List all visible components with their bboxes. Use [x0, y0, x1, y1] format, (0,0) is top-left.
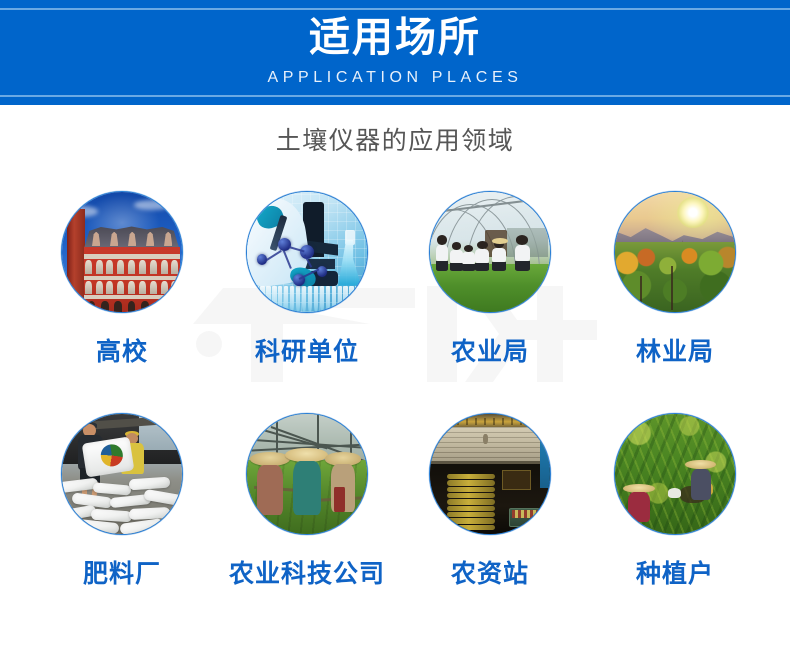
university-building-illustration	[62, 192, 182, 312]
place-label: 农资站	[397, 559, 583, 589]
banner-bottom-rule	[0, 95, 790, 97]
place-label: 高校	[29, 337, 215, 367]
vegetable-field-illustration	[615, 414, 735, 534]
place-card-agri-supply-station[interactable]: 农资站	[397, 407, 583, 589]
fertilizer-sacks-illustration	[62, 414, 182, 534]
greenhouse-inspection-illustration	[430, 192, 550, 312]
place-label: 林业局	[582, 337, 768, 367]
place-image-agriculture-bureau	[429, 191, 551, 313]
place-card-agriculture-bureau[interactable]: 农业局	[397, 185, 583, 367]
molecule-overlay-icon	[247, 192, 367, 312]
place-image-university	[61, 191, 183, 313]
place-image-growers	[614, 413, 736, 535]
place-image-forestry-bureau	[614, 191, 736, 313]
place-card-research-institute[interactable]: 科研单位	[214, 185, 400, 367]
page-banner: 适用场所 APPLICATION PLACES	[0, 0, 790, 105]
place-card-growers[interactable]: 种植户	[582, 407, 768, 589]
place-card-fertilizer-plant[interactable]: 肥料厂	[29, 407, 215, 589]
place-card-university[interactable]: 高校	[29, 185, 215, 367]
banner-top-rule	[0, 8, 790, 10]
nursery-workers-illustration	[247, 414, 367, 534]
place-label: 农业科技公司	[214, 559, 400, 589]
section-heading: 土壤仪器的应用领域	[0, 125, 790, 157]
place-card-forestry-bureau[interactable]: 林业局	[582, 185, 768, 367]
application-places-grid: 高校	[0, 185, 790, 655]
place-label: 种植户	[582, 559, 768, 589]
place-card-agritech-company[interactable]: 农业科技公司	[214, 407, 400, 589]
supply-store-illustration	[430, 414, 550, 534]
autumn-forest-illustration	[615, 192, 735, 312]
laboratory-illustration	[247, 192, 367, 312]
place-label: 科研单位	[214, 337, 400, 367]
place-label: 肥料厂	[29, 559, 215, 589]
place-image-agri-supply-station	[429, 413, 551, 535]
place-label: 农业局	[397, 337, 583, 367]
place-image-agritech-company	[246, 413, 368, 535]
place-image-research-institute	[246, 191, 368, 313]
banner-subtitle: APPLICATION PLACES	[0, 68, 790, 88]
place-image-fertilizer-plant	[61, 413, 183, 535]
banner-title: 适用场所	[0, 14, 790, 60]
